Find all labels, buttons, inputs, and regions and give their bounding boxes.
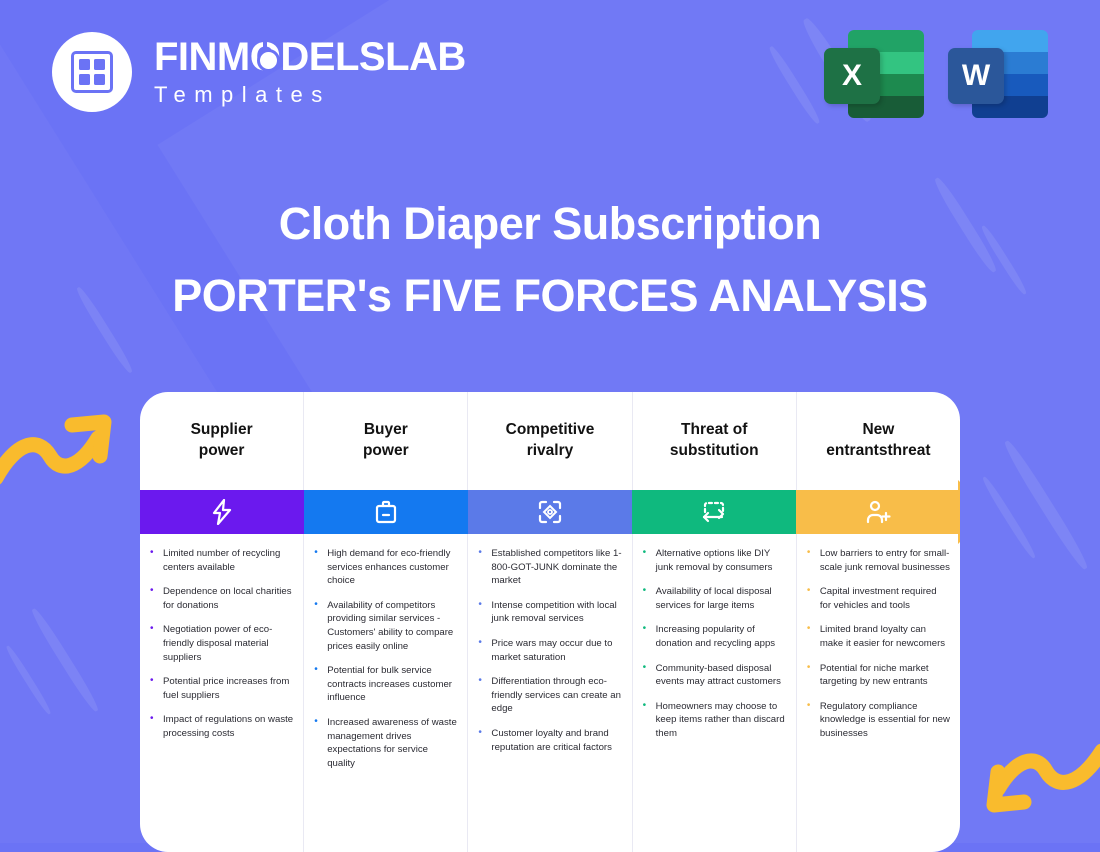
squiggle-arrow-down-left-icon	[974, 735, 1100, 827]
page-title-block: Cloth Diaper Subscription PORTER's FIVE …	[0, 196, 1100, 325]
list-item: Differentiation through eco-friendly ser…	[476, 675, 621, 716]
list-item: Homeowners may choose to keep items rath…	[641, 700, 786, 741]
list-item: Potential price increases from fuel supp…	[148, 675, 293, 702]
column-header-competitive-rivalry: Competitiverivalry	[468, 392, 632, 490]
list-item: Community-based disposal events may attr…	[641, 662, 786, 689]
brush-stroke	[980, 475, 1037, 560]
brand-name-ring-o: O	[250, 36, 281, 78]
squiggle-arrow-up-right-icon	[0, 398, 124, 490]
band-cell-supplier-power	[140, 490, 304, 534]
list-item: Limited brand loyalty can make it easier…	[805, 623, 950, 650]
column-body-competitive-rivalry: Established competitors like 1-800-GOT-J…	[468, 534, 632, 852]
band-cell-buyer-power	[304, 490, 468, 534]
list-item: Potential for bulk service contracts inc…	[312, 664, 457, 705]
force-icon-band-cells	[140, 490, 960, 534]
list-item: High demand for eco-friendly services en…	[312, 547, 457, 588]
list-item: Customer loyalty and brand reputation ar…	[476, 727, 621, 754]
porter-five-forces-card: Supplierpower Buyerpower Competitiveriva…	[140, 392, 960, 852]
list-item: Established competitors like 1-800-GOT-J…	[476, 547, 621, 588]
lightning-bolt-icon	[210, 499, 234, 525]
brand-name-part1: FINM	[154, 35, 250, 79]
brand-text: FINMODELSLAB Templates	[154, 36, 466, 108]
brand-logo[interactable]: FINMODELSLAB Templates	[52, 32, 466, 112]
bullet-list: Alternative options like DIY junk remova…	[641, 547, 786, 741]
excel-icon-letter: X	[824, 48, 880, 104]
list-item: Availability of competitors providing si…	[312, 599, 457, 653]
brand-subtitle: Templates	[154, 82, 466, 108]
column-header-line1: Supplier	[191, 421, 253, 438]
column-body-threat-of-substitution: Alternative options like DIY junk remova…	[633, 534, 797, 852]
column-header-line2: entrantsthreat	[826, 442, 930, 459]
table-header-row: Supplierpower Buyerpower Competitiveriva…	[140, 392, 960, 490]
page-title-line1: Cloth Diaper Subscription	[0, 196, 1100, 252]
swap-arrows-icon	[700, 499, 728, 525]
column-header-line1: Threat of	[681, 421, 747, 438]
briefcase-minus-icon	[373, 499, 399, 525]
column-header-line2: rivalry	[527, 442, 574, 459]
column-body-buyer-power: High demand for eco-friendly services en…	[304, 534, 468, 852]
column-header-line2: power	[199, 442, 245, 459]
brand-name: FINMODELSLAB	[154, 36, 466, 78]
column-header-buyer-power: Buyerpower	[304, 392, 468, 490]
list-item: Limited number of recycling centers avai…	[148, 547, 293, 574]
column-header-line1: New	[862, 421, 894, 438]
word-icon[interactable]: W	[948, 30, 1048, 118]
list-item: Price wars may occur due to market satur…	[476, 637, 621, 664]
band-cell-new-entrants-threat	[796, 490, 960, 534]
list-item: Alternative options like DIY junk remova…	[641, 547, 786, 574]
column-header-line2: power	[363, 442, 409, 459]
column-header-line1: Buyer	[364, 421, 408, 438]
list-item: Negotiation power of eco-friendly dispos…	[148, 623, 293, 664]
column-header-line1: Competitive	[506, 421, 595, 438]
brush-stroke	[4, 644, 52, 716]
band-cell-competitive-rivalry	[468, 490, 632, 534]
column-header-new-entrants-threat: Newentrantsthreat	[797, 392, 960, 490]
word-icon-letter: W	[948, 48, 1004, 104]
office-format-icons: X W	[824, 30, 1048, 118]
bullet-list: Limited number of recycling centers avai…	[148, 547, 293, 741]
brush-stroke	[29, 606, 101, 713]
list-item: Impact of regulations on waste processin…	[148, 713, 293, 740]
brand-name-part2: DELSLAB	[280, 35, 465, 79]
column-header-supplier-power: Supplierpower	[140, 392, 304, 490]
column-body-new-entrants-threat: Low barriers to entry for small-scale ju…	[797, 534, 960, 852]
list-item: Low barriers to entry for small-scale ju…	[805, 547, 950, 574]
logo-badge	[52, 32, 132, 112]
list-item: Regulatory compliance knowledge is essen…	[805, 700, 950, 741]
brush-stroke	[767, 44, 822, 125]
list-item: Increased awareness of waste management …	[312, 716, 457, 770]
list-item: Increasing popularity of donation and re…	[641, 623, 786, 650]
bullet-list: Established competitors like 1-800-GOT-J…	[476, 547, 621, 754]
user-plus-icon	[864, 499, 892, 525]
brush-stroke	[1001, 438, 1091, 572]
bullet-list: Low barriers to entry for small-scale ju…	[805, 547, 950, 741]
excel-icon[interactable]: X	[824, 30, 924, 118]
list-item: Capital investment required for vehicles…	[805, 585, 950, 612]
table-body-row: Limited number of recycling centers avai…	[140, 534, 960, 852]
column-header-line2: substitution	[670, 442, 759, 459]
list-item: Dependence on local charities for donati…	[148, 585, 293, 612]
bullet-list: High demand for eco-friendly services en…	[312, 547, 457, 771]
grid-squares-icon	[71, 51, 113, 93]
column-header-threat-of-substitution: Threat ofsubstitution	[633, 392, 797, 490]
column-body-supplier-power: Limited number of recycling centers avai…	[140, 534, 304, 852]
list-item: Availability of local disposal services …	[641, 585, 786, 612]
page-title-line2: PORTER's FIVE FORCES ANALYSIS	[0, 268, 1100, 324]
force-icon-band	[140, 490, 960, 534]
list-item: Intense competition with local junk remo…	[476, 599, 621, 626]
band-cell-threat-of-substitution	[632, 490, 796, 534]
list-item: Potential for niche market targeting by …	[805, 662, 950, 689]
target-focus-icon	[537, 499, 563, 525]
